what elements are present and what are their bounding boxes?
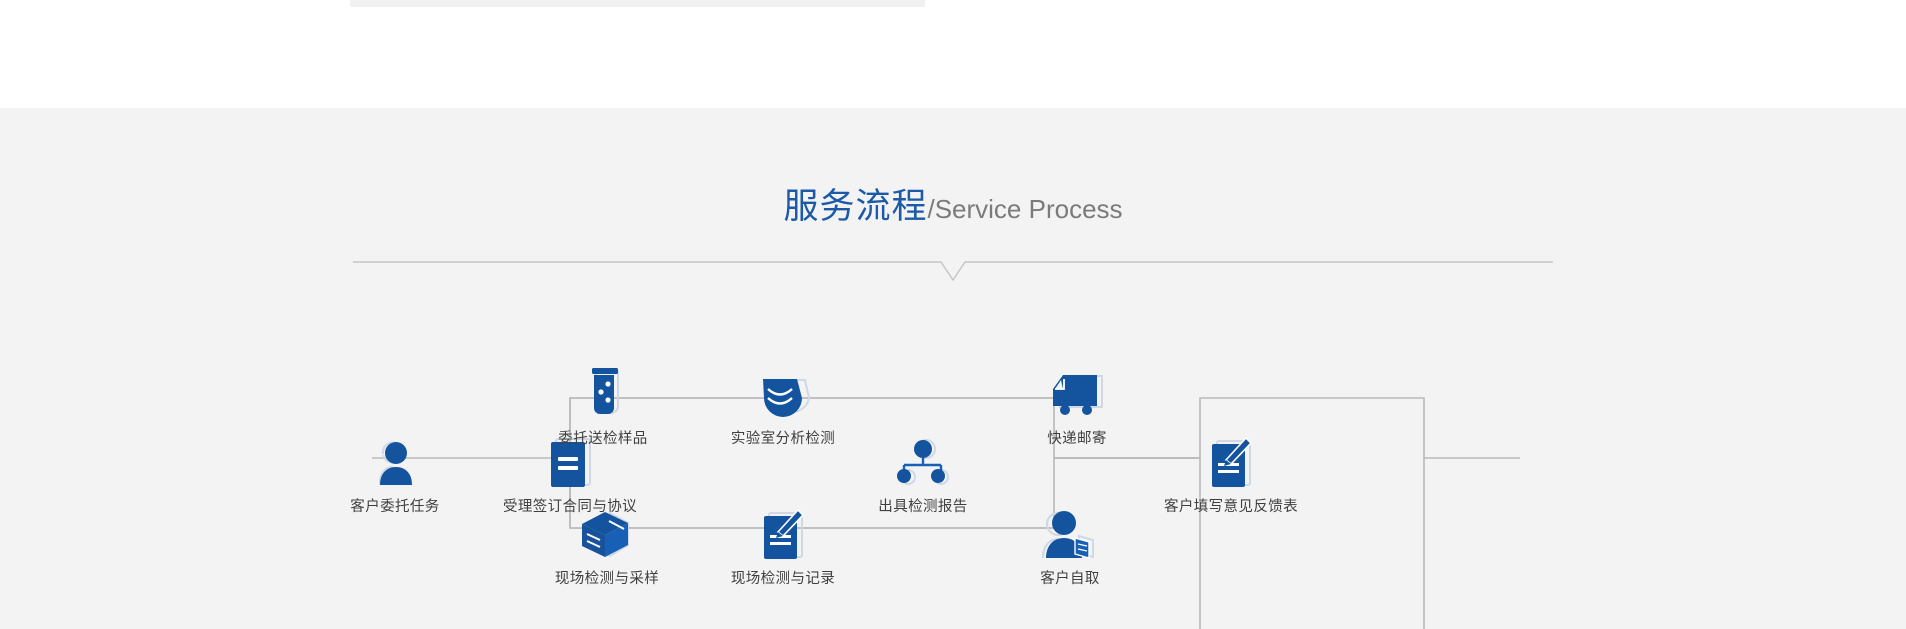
page-root: 服务流程/Service Process xyxy=(0,0,1906,629)
lab-scanner-icon-wrap xyxy=(688,358,878,420)
delivery-truck-icon xyxy=(1045,372,1109,420)
test-tube-icon xyxy=(581,366,625,420)
person-icon-wrap xyxy=(300,426,490,488)
person-icon xyxy=(374,440,416,488)
node-label: 客户自取 xyxy=(975,571,1165,588)
node-feedback-form[interactable]: 客户填写意见反馈表 xyxy=(1136,426,1326,516)
node-label: 现场检测与记录 xyxy=(688,571,878,588)
box-package-icon-wrap xyxy=(512,498,702,560)
node-label: 客户委托任务 xyxy=(300,499,490,516)
notebook-pen-icon xyxy=(759,508,807,560)
org-chart-icon xyxy=(892,438,954,488)
top-white-band xyxy=(0,0,1906,108)
node-label: 客户填写意见反馈表 xyxy=(1136,499,1326,516)
node-label: 委托送检样品 xyxy=(508,431,698,448)
node-label: 现场检测与采样 xyxy=(512,571,702,588)
top-gray-strip xyxy=(350,0,925,7)
node-send-sample[interactable]: 委托送检样品 xyxy=(508,358,698,448)
node-onsite-sampling[interactable]: 现场检测与采样 xyxy=(512,498,702,588)
service-process-section: 服务流程/Service Process xyxy=(0,108,1906,629)
feedback-notebook-icon-wrap xyxy=(1136,426,1326,488)
test-tube-icon-wrap xyxy=(508,358,698,420)
process-flow-diagram: 客户委托任务 受理签订合同与协议 xyxy=(0,108,1906,629)
lab-scanner-icon xyxy=(755,374,811,420)
person-with-card-icon xyxy=(1041,510,1099,560)
flow-connectors xyxy=(0,108,1906,629)
feedback-notebook-icon xyxy=(1207,436,1255,488)
node-client-commission[interactable]: 客户委托任务 xyxy=(300,426,490,516)
delivery-truck-icon-wrap xyxy=(982,358,1172,420)
box-package-icon xyxy=(580,510,634,560)
